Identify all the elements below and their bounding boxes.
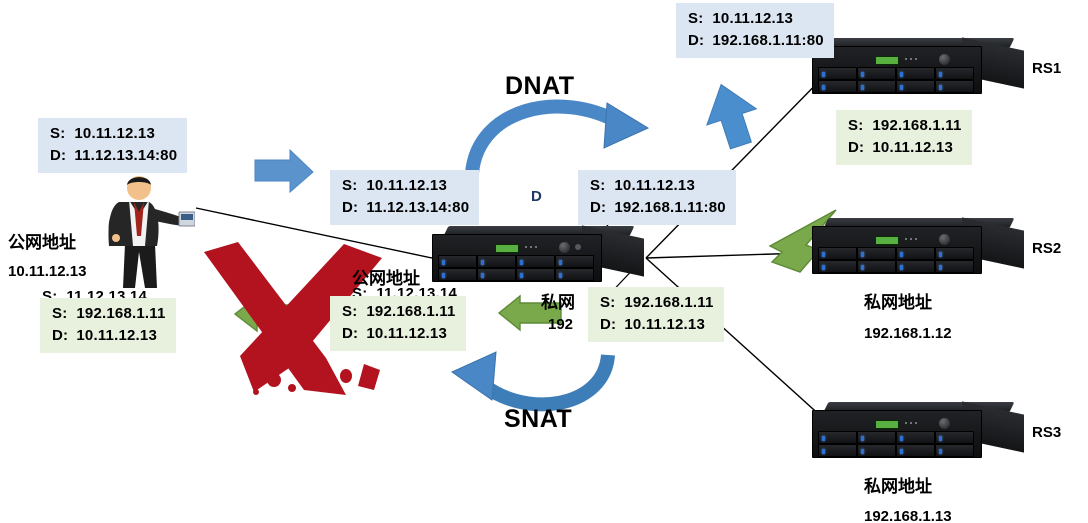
packet-s-label: S: <box>342 301 362 323</box>
packet-d-value: 10.11.12.13 <box>366 325 447 342</box>
packet-d-value: 10.11.12.13 <box>872 139 953 156</box>
packet-rs1-in: S: 10.11.12.13 D: 192.168.1.11:80 <box>676 3 834 58</box>
packet-client-reply: S: 192.168.1.11 D: 10.11.12.13 <box>40 298 176 353</box>
client-person-icon <box>85 172 195 292</box>
packet-lb-reply-in: S: 192.168.1.11 D: 10.11.12.13 <box>588 287 724 342</box>
packet-d-label: D: <box>848 137 868 159</box>
packet-d-label: D: <box>52 325 72 347</box>
packet-s-value: 10.11.12.13 <box>366 177 447 194</box>
dnat-arrow <box>472 103 648 173</box>
lb-private-label: 私网 <box>541 288 575 313</box>
rs2-private-address: 192.168.1.12 <box>864 325 952 342</box>
dnat-label: DNAT <box>505 72 575 101</box>
packet-d-label: D: <box>342 323 362 345</box>
stray-d-label: D <box>531 188 542 205</box>
rs3-name: RS3 <box>1032 424 1061 441</box>
snat-label: SNAT <box>504 405 572 434</box>
load-balancer-server <box>432 226 647 288</box>
client-public-address: 10.11.12.13 <box>8 263 86 280</box>
rs1-name: RS1 <box>1032 60 1061 77</box>
packet-d-value: 11.12.13.14:80 <box>74 147 177 164</box>
packet-d-label: D: <box>688 30 708 52</box>
packet-s-label: S: <box>590 175 610 197</box>
packet-s-value: 10.11.12.13 <box>712 10 793 27</box>
packet-d-value: 10.11.12.13 <box>624 316 705 333</box>
to-rs1-arrow-blue <box>696 77 765 154</box>
snat-arrow <box>452 352 608 404</box>
network-diagram-canvas: S: 10.11.12.13 D: 192.168.1.11:80 S: 192… <box>0 0 1088 523</box>
packet-s-label: S: <box>688 8 708 30</box>
packet-d-label: D: <box>590 197 610 219</box>
lb-private-address: 192 <box>548 316 573 333</box>
packet-s-label: S: <box>342 175 362 197</box>
packet-client-request: S: 10.11.12.13 D: 11.12.13.14:80 <box>38 118 187 173</box>
rs2-name: RS2 <box>1032 240 1061 257</box>
packet-d-value: 11.12.13.14:80 <box>366 199 469 216</box>
packet-s-value: 10.11.12.13 <box>614 177 695 194</box>
packet-s-label: S: <box>52 303 72 325</box>
packet-lb-in: S: 10.11.12.13 D: 11.12.13.14:80 <box>330 170 479 225</box>
packet-s-label: S: <box>50 123 70 145</box>
real-server-3 <box>812 402 1027 464</box>
real-server-2 <box>812 218 1027 280</box>
packet-lb-reply-out: S: 192.168.1.11 D: 10.11.12.13 <box>330 296 466 351</box>
packet-s-value: 192.168.1.11 <box>366 303 455 320</box>
packet-s-value: 10.11.12.13 <box>74 125 155 142</box>
packet-d-label: D: <box>342 197 362 219</box>
packet-s-label: S: <box>848 115 868 137</box>
packet-d-label: D: <box>50 145 70 167</box>
packet-s-value: 192.168.1.11 <box>624 294 713 311</box>
packet-rs1-reply: S: 192.168.1.11 D: 10.11.12.13 <box>836 110 972 165</box>
packet-s-value: 192.168.1.11 <box>76 305 165 322</box>
rs2-private-label: 私网地址 <box>864 288 932 313</box>
rs3-private-address: 192.168.1.13 <box>864 508 952 523</box>
packet-s-label: S: <box>600 292 620 314</box>
packet-d-value: 192.168.1.11:80 <box>614 199 725 216</box>
request-arrow-blue <box>255 150 313 192</box>
rs3-private-label: 私网地址 <box>864 472 932 497</box>
packet-d-value: 192.168.1.11:80 <box>712 32 823 49</box>
packet-s-value: 192.168.1.11 <box>872 117 961 134</box>
client-public-label: 公网地址 <box>8 228 76 253</box>
packet-d-label: D: <box>600 314 620 336</box>
packet-lb-out-dnat: S: 10.11.12.13 D: 192.168.1.11:80 <box>578 170 736 225</box>
packet-d-value: 10.11.12.13 <box>76 327 157 344</box>
real-server-1 <box>812 38 1027 100</box>
